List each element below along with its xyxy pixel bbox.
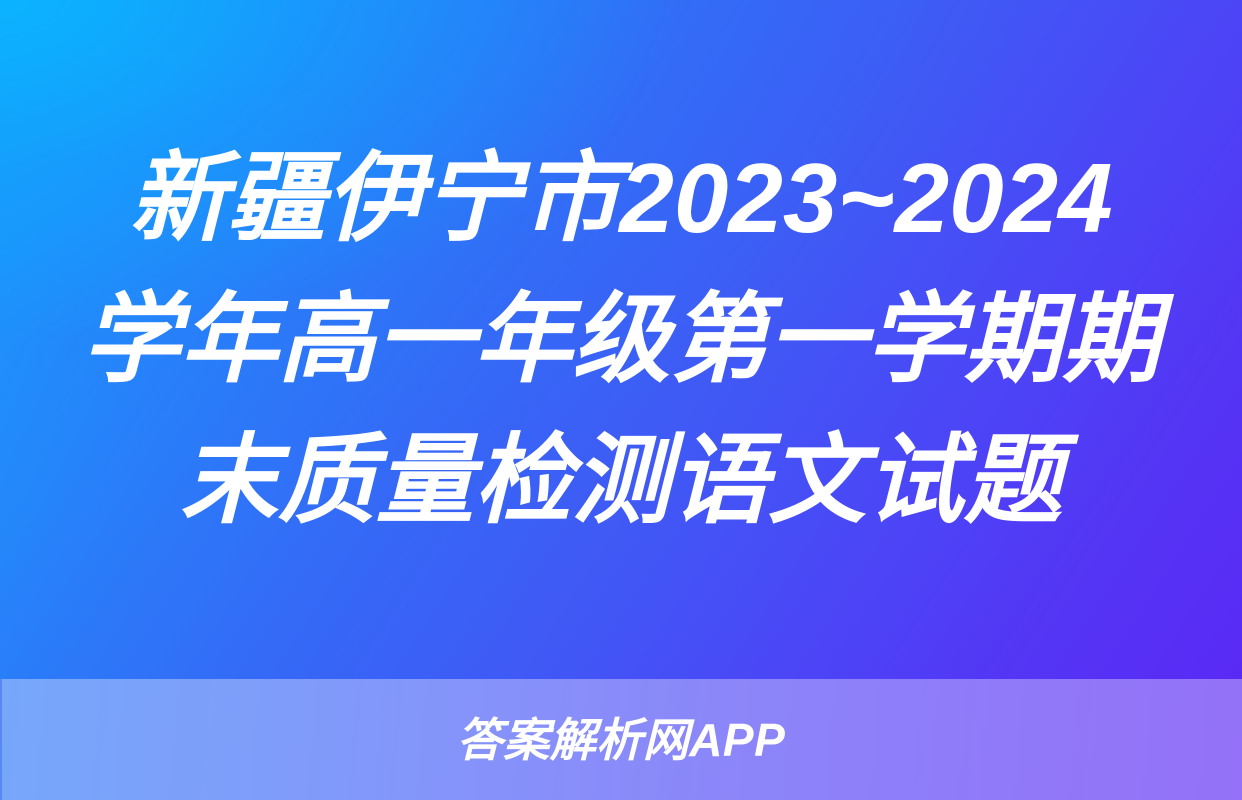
watermark-band: 答案解析网APP [0, 679, 1242, 800]
title-line-3: 末质量检测语文试题 [180, 410, 1062, 551]
title-line-2: 学年高一年级第一学期期 [82, 269, 1160, 410]
exam-cover-card: 新疆伊宁市2023~2024 学年高一年级第一学期期 末质量检测语文试题 答案解… [0, 0, 1242, 800]
title-line-1: 新疆伊宁市2023~2024 [129, 128, 1112, 269]
watermark-text: 答案解析网APP [457, 717, 786, 763]
page-title: 新疆伊宁市2023~2024 学年高一年级第一学期期 末质量检测语文试题 [0, 0, 1242, 679]
